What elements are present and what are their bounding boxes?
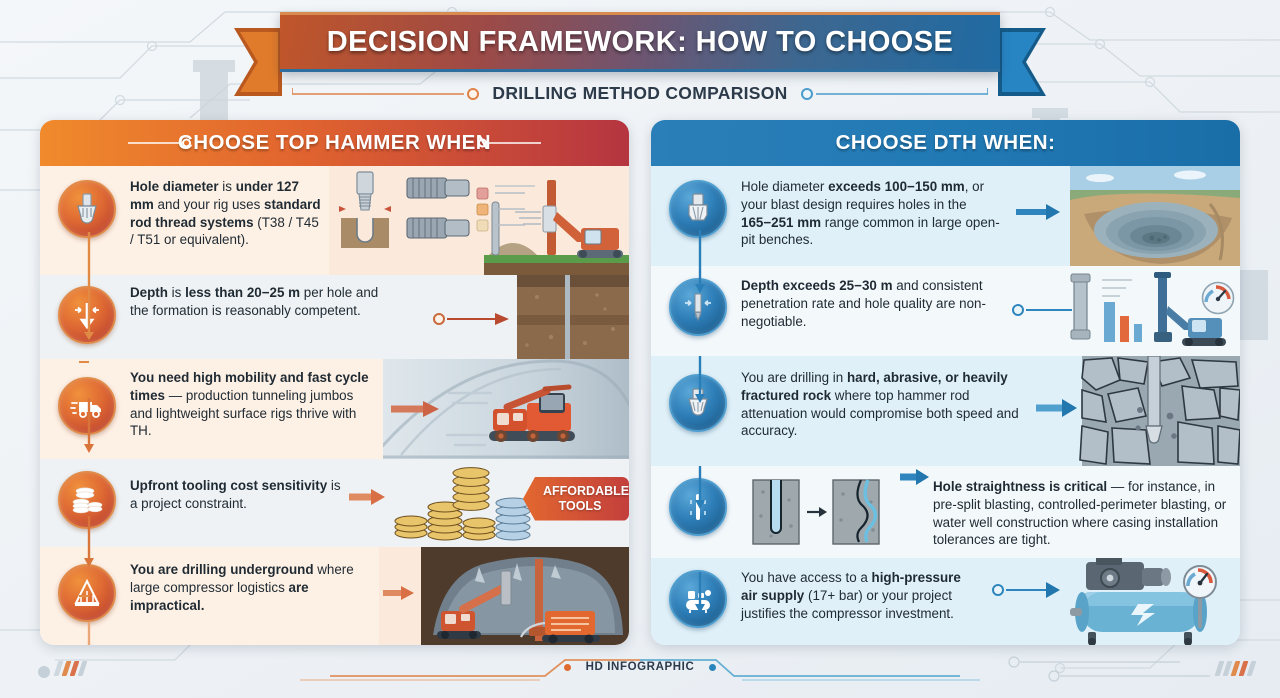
drill-bit-glyph-icon <box>69 191 105 227</box>
list-item[interactable]: You are drilling in hard, abrasive, or h… <box>651 356 1240 466</box>
head-line-right <box>487 142 541 144</box>
arrow-right-icon <box>900 466 930 488</box>
list-item-text: Upfront tooling cost sensitivity is a pr… <box>126 459 347 513</box>
panel-dth: CHOOSE DTH WHEN: <box>651 120 1240 645</box>
ribbon-tail-right-icon <box>998 28 1052 96</box>
subtitle-row: DRILLING METHOD COMPARISON <box>292 83 987 104</box>
coin-stack-glyph-icon <box>69 482 105 518</box>
page-subtitle: DRILLING METHOD COMPARISON <box>492 83 787 104</box>
rig-gauge-chart-scene-icon <box>996 266 1240 356</box>
underground-mine-glyph-icon <box>69 575 105 611</box>
drill-bit-icon <box>58 180 116 238</box>
fast-truck-icon <box>58 377 116 435</box>
seg: is <box>222 179 235 194</box>
head-dot-left-icon <box>182 139 191 148</box>
hole-deviation-diagram <box>737 466 899 558</box>
seg: 165−251 mm <box>741 215 821 230</box>
list-item[interactable]: Upfront tooling cost sensitivity is a pr… <box>40 459 629 547</box>
list-item-text: You are drilling underground where large… <box>126 547 379 614</box>
dth-hammer-bit-glyph-icon <box>680 191 716 227</box>
list-item-text: You have access to a high-pressure air s… <box>737 558 984 622</box>
compressor-tank-scene-icon <box>984 558 1240 645</box>
rock-bit-icon <box>669 374 727 432</box>
rig-gauge-chart-scene <box>996 266 1240 356</box>
seg: less than 20−25 m <box>185 285 300 300</box>
hole-deviation-diagram-icon <box>737 466 899 558</box>
seg: Depth <box>130 285 168 300</box>
depth-arrow-icon <box>58 286 116 344</box>
depth-probe-icon <box>669 278 727 336</box>
header: DECISION FRAMEWORK: HOW TO CHOOSE DRILLI… <box>0 12 1280 104</box>
head-line-left <box>128 142 182 144</box>
comparison-panels: CHOOSE TOP HAMMER WHEN <box>40 120 1240 645</box>
subtitle-connector-right-icon <box>798 87 988 101</box>
head-dot-right-icon <box>478 139 487 148</box>
list-item-text: You need high mobility and fast cycle ti… <box>126 359 383 440</box>
seg: Hole straightness is critical <box>933 479 1107 494</box>
panel-title-dth: CHOOSE DTH WHEN: <box>836 131 1056 155</box>
footer-dot-blue-icon <box>709 664 716 671</box>
compressor-tank-scene <box>984 558 1240 645</box>
seg: You have access to a <box>741 570 872 585</box>
coin-stacks: AFFORDABLE TOOLS <box>347 459 629 547</box>
title-ribbon: DECISION FRAMEWORK: HOW TO CHOOSE <box>280 12 1000 72</box>
tick-marks-left <box>56 661 85 676</box>
rig-thread-scene <box>329 166 629 275</box>
seg: Hole diameter <box>741 179 828 194</box>
dth-hammer-bit-icon <box>669 180 727 238</box>
footer-label: HD INFOGRAPHIC <box>577 661 704 673</box>
panel-top-hammer: CHOOSE TOP HAMMER WHEN <box>40 120 629 645</box>
panel-header-dth: CHOOSE DTH WHEN: <box>651 120 1240 166</box>
list-item[interactable]: Hole diameter is under 127 mm and your r… <box>40 166 629 275</box>
dth-arrow-4 <box>899 466 931 488</box>
seg: Depth exceeds 25−30 m <box>741 278 892 293</box>
seg: is <box>168 285 185 300</box>
tunnel-jumbo-scene <box>383 359 629 459</box>
list-item[interactable]: You need high mobility and fast cycle ti… <box>40 359 629 459</box>
list-item-text: Depth exceeds 25−30 m and consistent pen… <box>737 266 996 330</box>
list-item[interactable]: Hole straightness is critical — for inst… <box>651 466 1240 558</box>
depth-probe-glyph-icon <box>680 289 716 325</box>
straight-hole-glyph-icon <box>680 489 716 525</box>
list-item-text: Hole straightness is critical — for inst… <box>931 466 1240 549</box>
panel-title-top-hammer: CHOOSE TOP HAMMER WHEN <box>178 131 491 155</box>
tick-marks-right <box>1217 661 1254 676</box>
seg: and your rig uses <box>154 197 264 212</box>
ribbon-tail-left-icon <box>228 28 282 96</box>
panel-body-dth: Hole diameter exceeds 100−150 mm, or you… <box>651 166 1240 645</box>
fractured-rock-scene-icon <box>1032 356 1240 466</box>
list-item-text: Hole diameter is under 127 mm and your r… <box>126 166 329 249</box>
depth-arrow-glyph-icon <box>69 297 105 333</box>
seg: You are drilling underground <box>130 562 314 577</box>
panel-body-top-hammer: Hole diameter is under 127 mm and your r… <box>40 166 629 645</box>
panel-header-top-hammer: CHOOSE TOP HAMMER WHEN <box>40 120 629 166</box>
open-pit-bench-scene <box>1012 166 1240 266</box>
list-item-text: Depth is less than 20−25 m per hole and … <box>126 275 399 320</box>
air-compressor-icon <box>669 570 727 628</box>
straight-hole-icon <box>669 478 727 536</box>
seg: You are drilling in <box>741 370 847 385</box>
list-item-text: Hole diameter exceeds 100−150 mm, or you… <box>737 166 1012 249</box>
footer-dot-orange-icon <box>564 664 571 671</box>
rig-thread-scene-icon <box>329 166 629 275</box>
footer: HD INFOGRAPHIC <box>0 644 1280 690</box>
fractured-rock-scene <box>1032 356 1240 466</box>
rock-bit-glyph-icon <box>680 385 716 421</box>
list-item[interactable]: You are drilling underground where large… <box>40 547 629 645</box>
underground-mine-scene <box>379 547 629 645</box>
underground-mine-icon <box>58 564 116 622</box>
list-item-text: You are drilling in hard, abrasive, or h… <box>737 356 1032 440</box>
underground-mine-scene-icon <box>379 547 629 645</box>
fast-truck-glyph-icon <box>69 388 105 424</box>
open-pit-bench-scene-icon <box>1012 166 1240 266</box>
seg: exceeds 100−150 mm <box>828 179 965 194</box>
soil-cross-section-icon <box>399 275 629 359</box>
status-badge: AFFORDABLE TOOLS <box>523 477 629 521</box>
coin-stack-icon <box>58 471 116 529</box>
air-compressor-glyph-icon <box>680 581 716 617</box>
list-item[interactable]: You have access to a high-pressure air s… <box>651 558 1240 645</box>
footer-badge: HD INFOGRAPHIC <box>564 661 717 673</box>
subtitle-connector-left-icon <box>292 87 482 101</box>
seg: Upfront tooling cost sensitivity <box>130 478 327 493</box>
tunnel-jumbo-scene-icon <box>383 359 629 459</box>
depth-connector-and-soil <box>399 275 629 359</box>
list-item[interactable]: Hole diameter exceeds 100−150 mm, or you… <box>651 166 1240 266</box>
seg: Hole diameter <box>130 179 222 194</box>
list-item[interactable]: Depth is less than 20−25 m per hole and … <box>40 275 629 359</box>
list-item[interactable]: Depth exceeds 25−30 m and consistent pen… <box>651 266 1240 356</box>
page-title: DECISION FRAMEWORK: HOW TO CHOOSE <box>327 26 954 59</box>
